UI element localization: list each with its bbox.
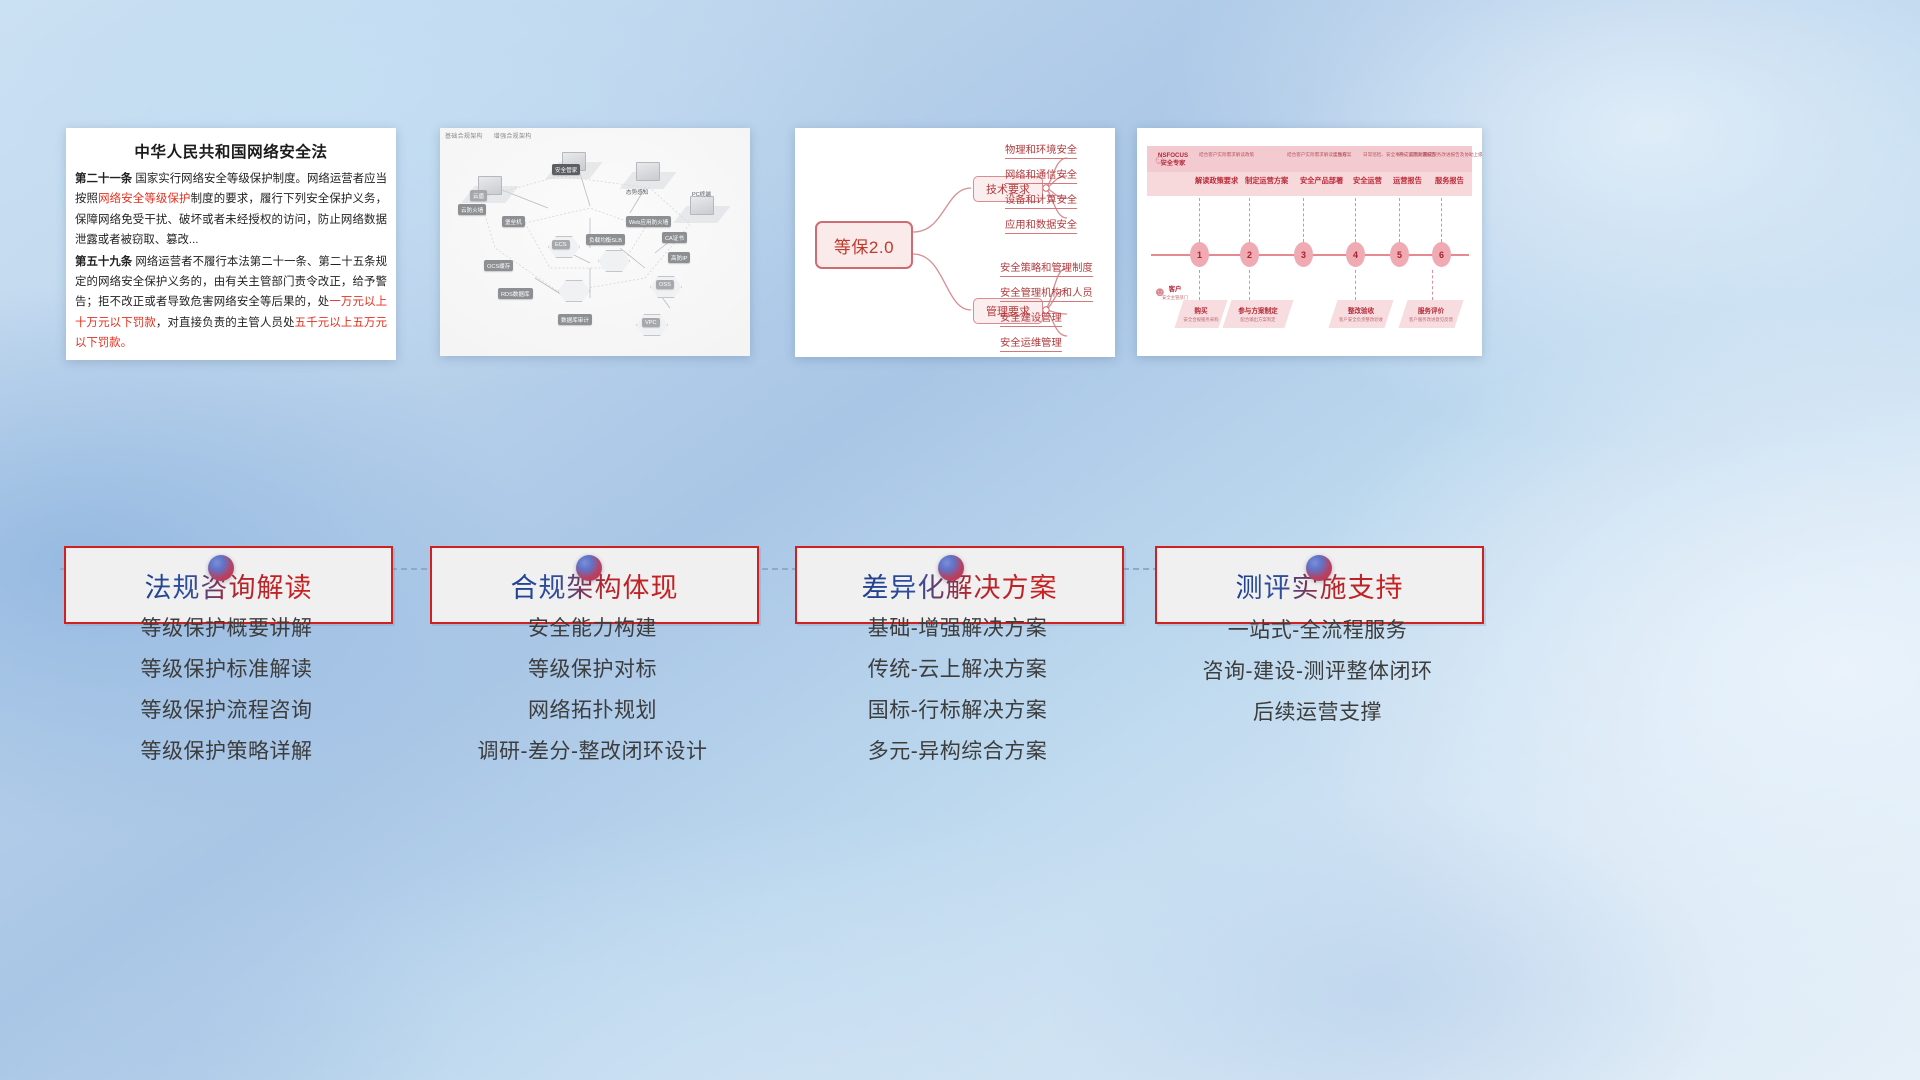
- pillar-items-2: 安全能力构建 等级保护对标 网络拓扑规划 调研-差分-整改闭环设计: [430, 608, 755, 772]
- list-item: 等级保护策略详解: [64, 731, 389, 772]
- timeline-dot-2[interactable]: [576, 555, 602, 581]
- list-item: 国标-行标解决方案: [795, 690, 1120, 731]
- pillar-items-1: 等级保护概要讲解 等级保护标准解读 等级保护流程咨询 等级保护策略详解: [64, 608, 389, 772]
- list-item: 咨询-建设-测评整体闭环: [1155, 651, 1480, 692]
- list-item: 网络拓扑规划: [430, 690, 755, 731]
- list-item: 等级保护对标: [430, 649, 755, 690]
- list-item: 等级保护标准解读: [64, 649, 389, 690]
- list-item: 一站式-全流程服务: [1155, 610, 1480, 651]
- list-item: 等级保护流程咨询: [64, 690, 389, 731]
- timeline-dot-3[interactable]: [938, 555, 964, 581]
- pillar-section: 法规咨询解读 合规架构体现 差异化解决方案 测评实施支持 等级保护概要讲解 等级…: [0, 0, 1920, 1080]
- list-item: 基础-增强解决方案: [795, 608, 1120, 649]
- list-item: 等级保护概要讲解: [64, 608, 389, 649]
- list-item: 安全能力构建: [430, 608, 755, 649]
- timeline-dot-1[interactable]: [208, 555, 234, 581]
- pillar-items-3: 基础-增强解决方案 传统-云上解决方案 国标-行标解决方案 多元-异构综合方案: [795, 608, 1120, 772]
- pillar-items-4: 一站式-全流程服务 咨询-建设-测评整体闭环 后续运营支撑: [1155, 610, 1480, 733]
- timeline-dot-4[interactable]: [1306, 555, 1332, 581]
- list-item: 多元-异构综合方案: [795, 731, 1120, 772]
- list-item: 后续运营支撑: [1155, 692, 1480, 733]
- list-item: 调研-差分-整改闭环设计: [430, 731, 755, 772]
- list-item: 传统-云上解决方案: [795, 649, 1120, 690]
